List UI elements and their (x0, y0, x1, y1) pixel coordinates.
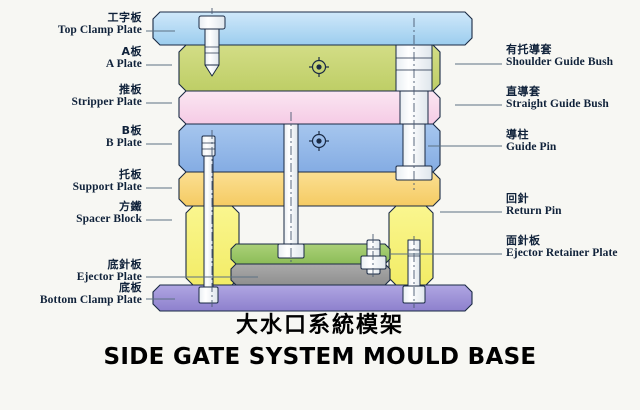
label-cn-ejector-plate: 底針板 (77, 259, 142, 271)
label-guide-pin: 導柱Guide Pin (506, 129, 556, 154)
label-cn-straight-guide-bush: 直導套 (506, 86, 609, 98)
title-english: SIDE GATE SYSTEM MOULD BASE (0, 342, 640, 372)
label-stripper-plate: 推板Stripper Plate (72, 84, 143, 109)
label-bottom-clamp-plate: 底板Bottom Clamp Plate (40, 282, 142, 307)
label-cn-return-pin: 回針 (506, 193, 562, 205)
label-cn-top-clamp-plate: 工字板 (58, 12, 142, 24)
label-en-guide-pin: Guide Pin (506, 141, 556, 154)
label-en-support-plate: Support Plate (73, 181, 142, 194)
label-b-plate: B板B Plate (106, 125, 142, 150)
label-en-return-pin: Return Pin (506, 205, 562, 218)
label-en-stripper-plate: Stripper Plate (72, 96, 143, 109)
label-en-bottom-clamp-plate: Bottom Clamp Plate (40, 294, 142, 307)
diagram-title: 大水口系統模架 SIDE GATE SYSTEM MOULD BASE (0, 312, 640, 372)
label-cn-support-plate: 托板 (73, 169, 142, 181)
title-chinese: 大水口系統模架 (0, 312, 640, 340)
label-cn-bottom-clamp-plate: 底板 (40, 282, 142, 294)
label-cn-guide-pin: 導柱 (506, 129, 556, 141)
label-en-spacer-block: Spacer Block (76, 213, 142, 226)
label-cn-spacer-block: 方鐵 (76, 201, 142, 213)
label-cn-b-plate: B板 (106, 125, 142, 137)
label-en-ejector-retainer-plate: Ejector Retainer Plate (506, 247, 618, 260)
plate-b-plate (179, 124, 440, 172)
label-ejector-retainer-plate: 面針板Ejector Retainer Plate (506, 235, 618, 260)
label-cn-shoulder-guide-bush: 有托導套 (506, 44, 613, 56)
label-en-shoulder-guide-bush: Shoulder Guide Bush (506, 56, 613, 69)
label-en-straight-guide-bush: Straight Guide Bush (506, 98, 609, 111)
label-support-plate: 托板Support Plate (73, 169, 142, 194)
label-cn-ejector-retainer-plate: 面針板 (506, 235, 618, 247)
label-straight-guide-bush: 直導套Straight Guide Bush (506, 86, 609, 111)
label-cn-a-plate: A板 (106, 46, 142, 58)
label-top-clamp-plate: 工字板Top Clamp Plate (58, 12, 142, 37)
label-en-b-plate: B Plate (106, 137, 142, 150)
label-en-top-clamp-plate: Top Clamp Plate (58, 24, 142, 37)
label-en-a-plate: A Plate (106, 58, 142, 71)
label-shoulder-guide-bush: 有托導套Shoulder Guide Bush (506, 44, 613, 69)
label-spacer-block: 方鐵Spacer Block (76, 201, 142, 226)
label-cn-stripper-plate: 推板 (72, 84, 143, 96)
label-return-pin: 回針Return Pin (506, 193, 562, 218)
shoulder-guide-bush-part (396, 45, 432, 91)
label-a-plate: A板A Plate (106, 46, 142, 71)
